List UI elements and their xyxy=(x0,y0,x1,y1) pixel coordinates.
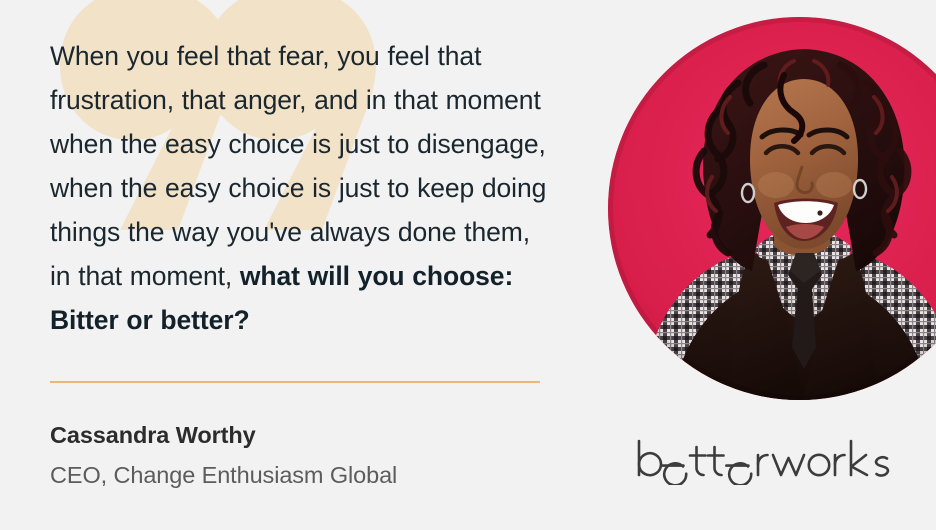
divider xyxy=(50,381,540,383)
quote-card: When you feel that fear, you feel that f… xyxy=(0,0,936,530)
quote-text-regular: When you feel that fear, you feel that f… xyxy=(50,41,546,291)
quote-content: When you feel that fear, you feel that f… xyxy=(50,34,550,342)
quote-text: When you feel that fear, you feel that f… xyxy=(50,34,550,342)
attribution: Cassandra Worthy CEO, Change Enthusiasm … xyxy=(50,418,397,491)
author-title: CEO, Change Enthusiasm Global xyxy=(50,459,397,491)
author-name: Cassandra Worthy xyxy=(50,418,397,452)
speaker-portrait xyxy=(608,17,936,400)
betterworks-logo xyxy=(634,437,896,485)
